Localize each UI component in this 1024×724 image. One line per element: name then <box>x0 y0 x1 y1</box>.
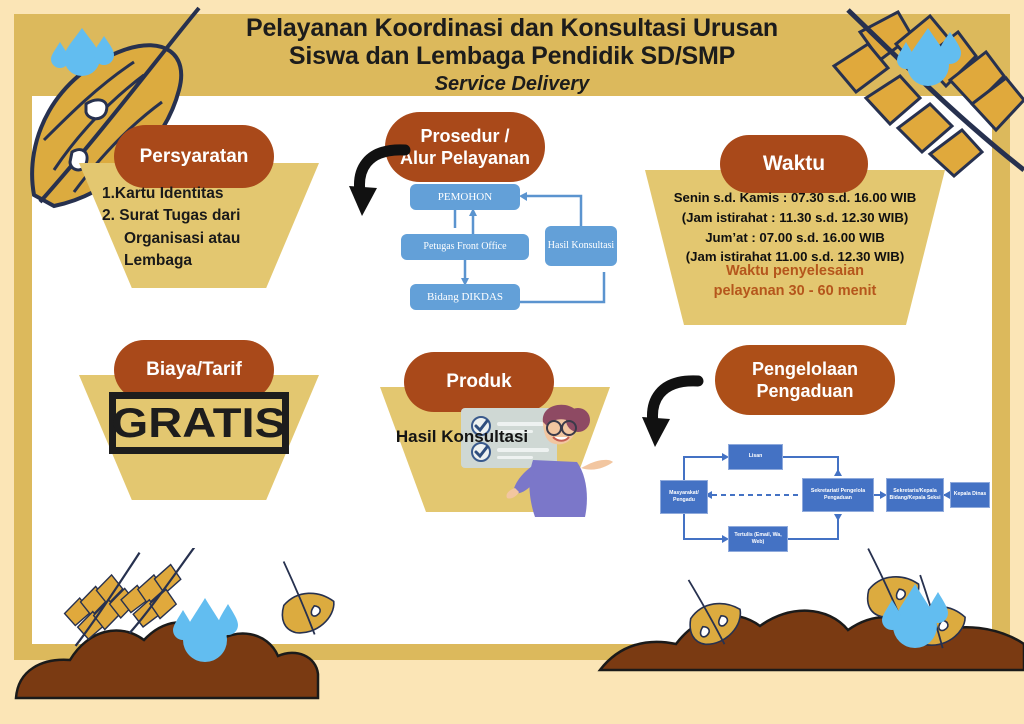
gratis-badge: GRATIS <box>109 392 289 454</box>
title-line-1: Pelayanan Koordinasi dan Konsultasi Urus… <box>0 14 1024 42</box>
curved-arrow-icon <box>347 142 417 222</box>
flow-box-petugas-front-office: Petugas Front Office <box>401 234 529 260</box>
waktu-accent-line2: pelayanan 30 - 60 menit <box>645 281 945 301</box>
flow-box-kepala-dinas: Kepala Dinas <box>950 482 990 508</box>
waktu-line: (Jam istirahat : 11.30 s.d. 12.30 WIB) <box>645 208 945 228</box>
flow-box-sekretariat-pengelola-pengaduan: Sekretariat/ Pengelola Pengaduan <box>802 478 874 512</box>
flow-box-lisan: Lisan <box>728 444 783 470</box>
flow-box-sekretaris-kepala-bidang: Sekretaris/Kepala Bidang/Kepala Seksi <box>886 478 944 512</box>
flow-box-tertulis: Tertulis (Email, Wa, Web) <box>728 526 788 552</box>
infographic-poster: Pelayanan Koordinasi dan Konsultasi Urus… <box>0 0 1024 724</box>
list-item: 2. Surat Tugas dari <box>102 205 316 227</box>
heading-pengaduan-line2: Pengaduan <box>756 380 853 403</box>
waktu-line: Jum’at : 07.00 s.d. 16.00 WIB <box>645 228 945 248</box>
heading-biaya: Biaya/Tarif <box>114 340 274 400</box>
waktu-accent-line1: Waktu penyelesaian <box>645 261 945 281</box>
heading-prosedur-line1: Prosedur / <box>420 125 509 148</box>
pengaduan-flowchart: Masyarakat/ Pengadu Lisan Tertulis (Emai… <box>650 430 980 580</box>
section-biaya: Biaya/Tarif GRATIS <box>74 340 324 500</box>
illustration-person-checklist <box>457 402 617 517</box>
flow-box-masyarakat-pengadu: Masyarakat/ Pengadu <box>660 480 708 514</box>
waktu-line: Senin s.d. Kamis : 07.30 s.d. 16.00 WIB <box>645 188 945 208</box>
curved-arrow-icon <box>638 371 708 451</box>
list-item: Lembaga <box>102 250 316 272</box>
heading-pengaduan-line1: Pengelolaan <box>752 358 858 381</box>
heading-pengaduan: Pengelolaan Pengaduan <box>715 345 895 415</box>
list-item: 1.Kartu Identitas <box>102 183 316 205</box>
title-line-2: Siswa dan Lembaga Pendidik SD/SMP <box>0 42 1024 70</box>
flow-box-pemohon: PEMOHON <box>410 184 520 210</box>
produk-value: Hasil Konsultasi <box>372 427 552 447</box>
section-produk: Produk Hasil Konsultasi <box>372 352 622 517</box>
section-persyaratan: Persyaratan 1.Kartu Identitas 2. Surat T… <box>74 125 324 290</box>
heading-waktu: Waktu <box>720 135 868 193</box>
section-pengaduan: Pengelolaan Pengaduan <box>650 345 980 585</box>
list-item: Organisasi atau <box>102 228 316 250</box>
page-title: Pelayanan Koordinasi dan Konsultasi Urus… <box>0 14 1024 96</box>
heading-prosedur-line2: Alur Pelayanan <box>400 147 530 170</box>
title-subtitle: Service Delivery <box>0 73 1024 96</box>
section-waktu: Waktu Senin s.d. Kamis : 07.30 s.d. 16.0… <box>645 135 945 325</box>
waktu-schedule: Senin s.d. Kamis : 07.30 s.d. 16.00 WIB … <box>645 188 945 267</box>
persyaratan-list: 1.Kartu Identitas 2. Surat Tugas dari Or… <box>88 183 316 273</box>
flow-box-bidang-dikdas: Bidang DIKDAS <box>410 284 520 310</box>
waktu-penyelesaian: Waktu penyelesaian pelayanan 30 - 60 men… <box>645 261 945 302</box>
section-prosedur: Prosedur / Alur Pelayanan PE <box>355 112 630 327</box>
gratis-label: GRATIS <box>112 402 286 444</box>
heading-persyaratan: Persyaratan <box>114 125 274 188</box>
flow-box-hasil-konsultasi: Hasil Konsultasi <box>545 226 617 266</box>
